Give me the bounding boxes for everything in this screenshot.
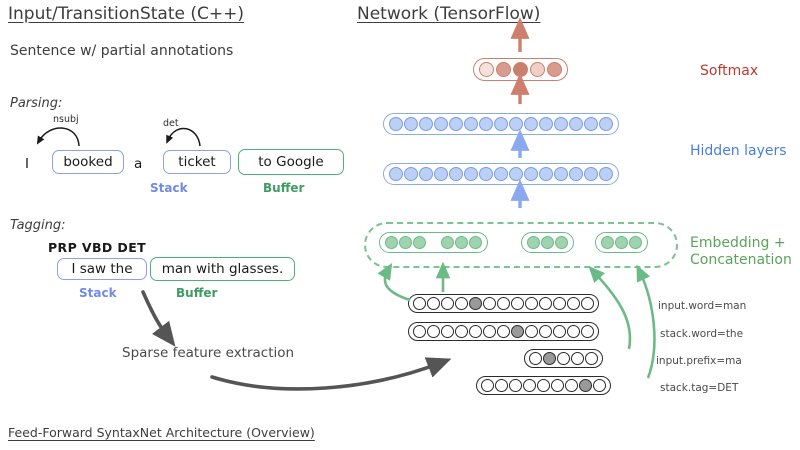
hidden-neuron: [539, 117, 553, 131]
sparse-neuron: [565, 379, 578, 392]
hidden-neuron: [434, 117, 448, 131]
left-panel-title: Input/TransitionState (C++): [8, 4, 244, 24]
parsing-label: Parsing:: [10, 96, 62, 111]
softmax-neuron: [547, 62, 562, 77]
softmax-neuron: [530, 62, 545, 77]
hidden-neuron: [419, 167, 433, 181]
dep-arc-nsubj-icon: [39, 128, 79, 146]
parsing-token-i: I: [25, 156, 29, 172]
embedding-neuron: [399, 236, 412, 249]
softmax-neuron: [496, 62, 511, 77]
embedding-neuron: [615, 236, 628, 249]
sparse-neuron: [469, 325, 482, 338]
embedding-group-word: [379, 232, 488, 253]
hidden-neuron: [509, 117, 523, 131]
sparse-neuron: [539, 325, 552, 338]
sparse-neuron: [455, 325, 468, 338]
parsing-token-a: a: [134, 156, 142, 172]
extraction-to-sparse-arrow-icon: [212, 363, 440, 389]
sparse-neuron: [413, 297, 426, 310]
softmax-neuron: [513, 62, 528, 77]
tagging-stack-caption: Stack: [79, 286, 117, 300]
sparse-neuron: [427, 297, 440, 310]
tagging-label: Tagging:: [10, 218, 66, 233]
hidden-neuron: [539, 167, 553, 181]
sparse-feature-extraction-label: Sparse feature extraction: [122, 345, 294, 361]
sparse-neuron: [567, 325, 580, 338]
sparse-neuron: [593, 379, 606, 392]
sparse-neuron-active: [543, 352, 556, 365]
hidden-neuron: [449, 167, 463, 181]
hidden-neuron: [599, 167, 613, 181]
hidden-neuron: [464, 117, 478, 131]
sparse-neuron: [481, 379, 494, 392]
sparse-neuron: [525, 325, 538, 338]
syntaxnet-architecture-diagram: Input/TransitionState (C++) Sentence w/ …: [0, 0, 800, 450]
sparse-neuron: [553, 297, 566, 310]
sparse-neuron: [511, 297, 524, 310]
sparse-vector-row: [524, 349, 603, 368]
embedding-neuron: [527, 236, 540, 249]
hidden-neuron: [449, 117, 463, 131]
hidden-neuron: [479, 117, 493, 131]
sparse-neuron: [497, 297, 510, 310]
hidden-neuron: [584, 167, 598, 181]
sparse-neuron: [581, 297, 594, 310]
right-panel-title: Network (TensorFlow): [357, 4, 540, 24]
hidden-neuron: [524, 117, 538, 131]
sparse-neuron: [427, 325, 440, 338]
tagging-pos-tags: PRP VBD DET: [48, 240, 146, 255]
hidden-neuron: [554, 117, 568, 131]
feature-label-stack-tag: stack.tag=DET: [660, 382, 738, 394]
sparse-neuron: [525, 297, 538, 310]
tagging-to-extraction-arrow-icon: [143, 292, 168, 337]
left-panel-subtitle: Sentence w/ partial annotations: [10, 43, 233, 59]
embedding-neuron: [385, 236, 398, 249]
sparse-neuron: [557, 352, 570, 365]
hidden-layers-label: Hidden layers: [690, 143, 787, 160]
hidden-neuron: [569, 117, 583, 131]
feature-label-input-prefix: input.prefix=ma: [656, 355, 742, 367]
sparse-neuron: [523, 379, 536, 392]
sparse-neuron: [585, 352, 598, 365]
embedding-neuron: [413, 236, 426, 249]
embedding-neuron: [455, 236, 468, 249]
sparse-to-embedding-arrow-icon: [640, 272, 654, 378]
sparse-neuron: [455, 297, 468, 310]
hidden-neuron: [584, 117, 598, 131]
sparse-vector-row: [408, 322, 599, 341]
sparse-vector-row: [476, 376, 611, 395]
sparse-neuron: [581, 325, 594, 338]
sparse-neuron: [413, 325, 426, 338]
hidden-neuron: [389, 167, 403, 181]
tagging-buffer-box: man with glasses.: [150, 257, 295, 281]
parsing-buffer-caption: Buffer: [263, 181, 304, 195]
hidden-neuron: [524, 167, 538, 181]
embedding-neuron: [541, 236, 554, 249]
sparse-neuron: [483, 325, 496, 338]
embedding-neuron: [601, 236, 614, 249]
sparse-neuron: [539, 297, 552, 310]
sparse-neuron: [537, 379, 550, 392]
sparse-neuron: [529, 352, 542, 365]
hidden-layer-upper: [383, 113, 619, 135]
hidden-neuron: [419, 117, 433, 131]
embedding-neuron: [441, 236, 454, 249]
sparse-neuron-active: [511, 325, 524, 338]
hidden-layer-lower: [383, 163, 619, 185]
embedding-group-tag: [595, 232, 648, 253]
hidden-neuron: [554, 167, 568, 181]
dependency-arc-label-det: det: [163, 118, 179, 129]
hidden-neuron: [509, 167, 523, 181]
embedding-group-prefix: [521, 232, 574, 253]
sparse-neuron-active: [579, 379, 592, 392]
sparse-to-embedding-arrow-icon: [594, 272, 630, 349]
hidden-neuron: [494, 167, 508, 181]
sparse-neuron-active: [469, 297, 482, 310]
tagging-stack-box: I saw the: [57, 258, 147, 280]
hidden-neuron: [464, 167, 478, 181]
embedding-neuron: [555, 236, 568, 249]
sparse-neuron: [441, 325, 454, 338]
hidden-neuron: [404, 167, 418, 181]
embedding-neuron: [629, 236, 642, 249]
sparse-neuron: [509, 379, 522, 392]
hidden-neuron: [389, 117, 403, 131]
embedding-label-line1: Embedding +: [690, 235, 792, 252]
sparse-neuron: [497, 325, 510, 338]
sparse-neuron: [553, 325, 566, 338]
softmax-layer: [473, 58, 568, 81]
hidden-neuron: [479, 167, 493, 181]
sparse-neuron: [483, 297, 496, 310]
hidden-neuron: [569, 167, 583, 181]
sparse-to-embedding-arrow-icon: [385, 270, 410, 300]
sparse-vector-row: [408, 294, 599, 313]
sparse-neuron: [551, 379, 564, 392]
embedding-neuron: [469, 236, 482, 249]
parsing-stack-caption: Stack: [150, 181, 188, 195]
embedding-label-line2: Concatenation: [690, 252, 792, 269]
dependency-arc-label-nsubj: nsubj: [53, 114, 79, 125]
feature-label-input-word: input.word=man: [658, 300, 746, 312]
hidden-neuron: [404, 117, 418, 131]
parsing-token-ticket: ticket: [163, 150, 231, 174]
sparse-neuron: [567, 297, 580, 310]
hidden-neuron: [599, 117, 613, 131]
hidden-neuron: [494, 117, 508, 131]
softmax-neuron: [479, 62, 494, 77]
sparse-neuron: [441, 297, 454, 310]
sparse-neuron: [495, 379, 508, 392]
dep-arc-det-icon: [168, 129, 200, 146]
softmax-label: Softmax: [700, 63, 758, 80]
embedding-label: Embedding + Concatenation: [690, 235, 792, 269]
hidden-neuron: [434, 167, 448, 181]
tagging-buffer-caption: Buffer: [176, 286, 217, 300]
sparse-neuron: [571, 352, 584, 365]
parsing-token-booked: booked: [52, 150, 124, 174]
parsing-token-buffer: to Google: [238, 149, 344, 175]
feature-label-stack-word: stack.word=the: [660, 328, 743, 340]
figure-caption: Feed-Forward SyntaxNet Architecture (Ove…: [8, 425, 315, 440]
